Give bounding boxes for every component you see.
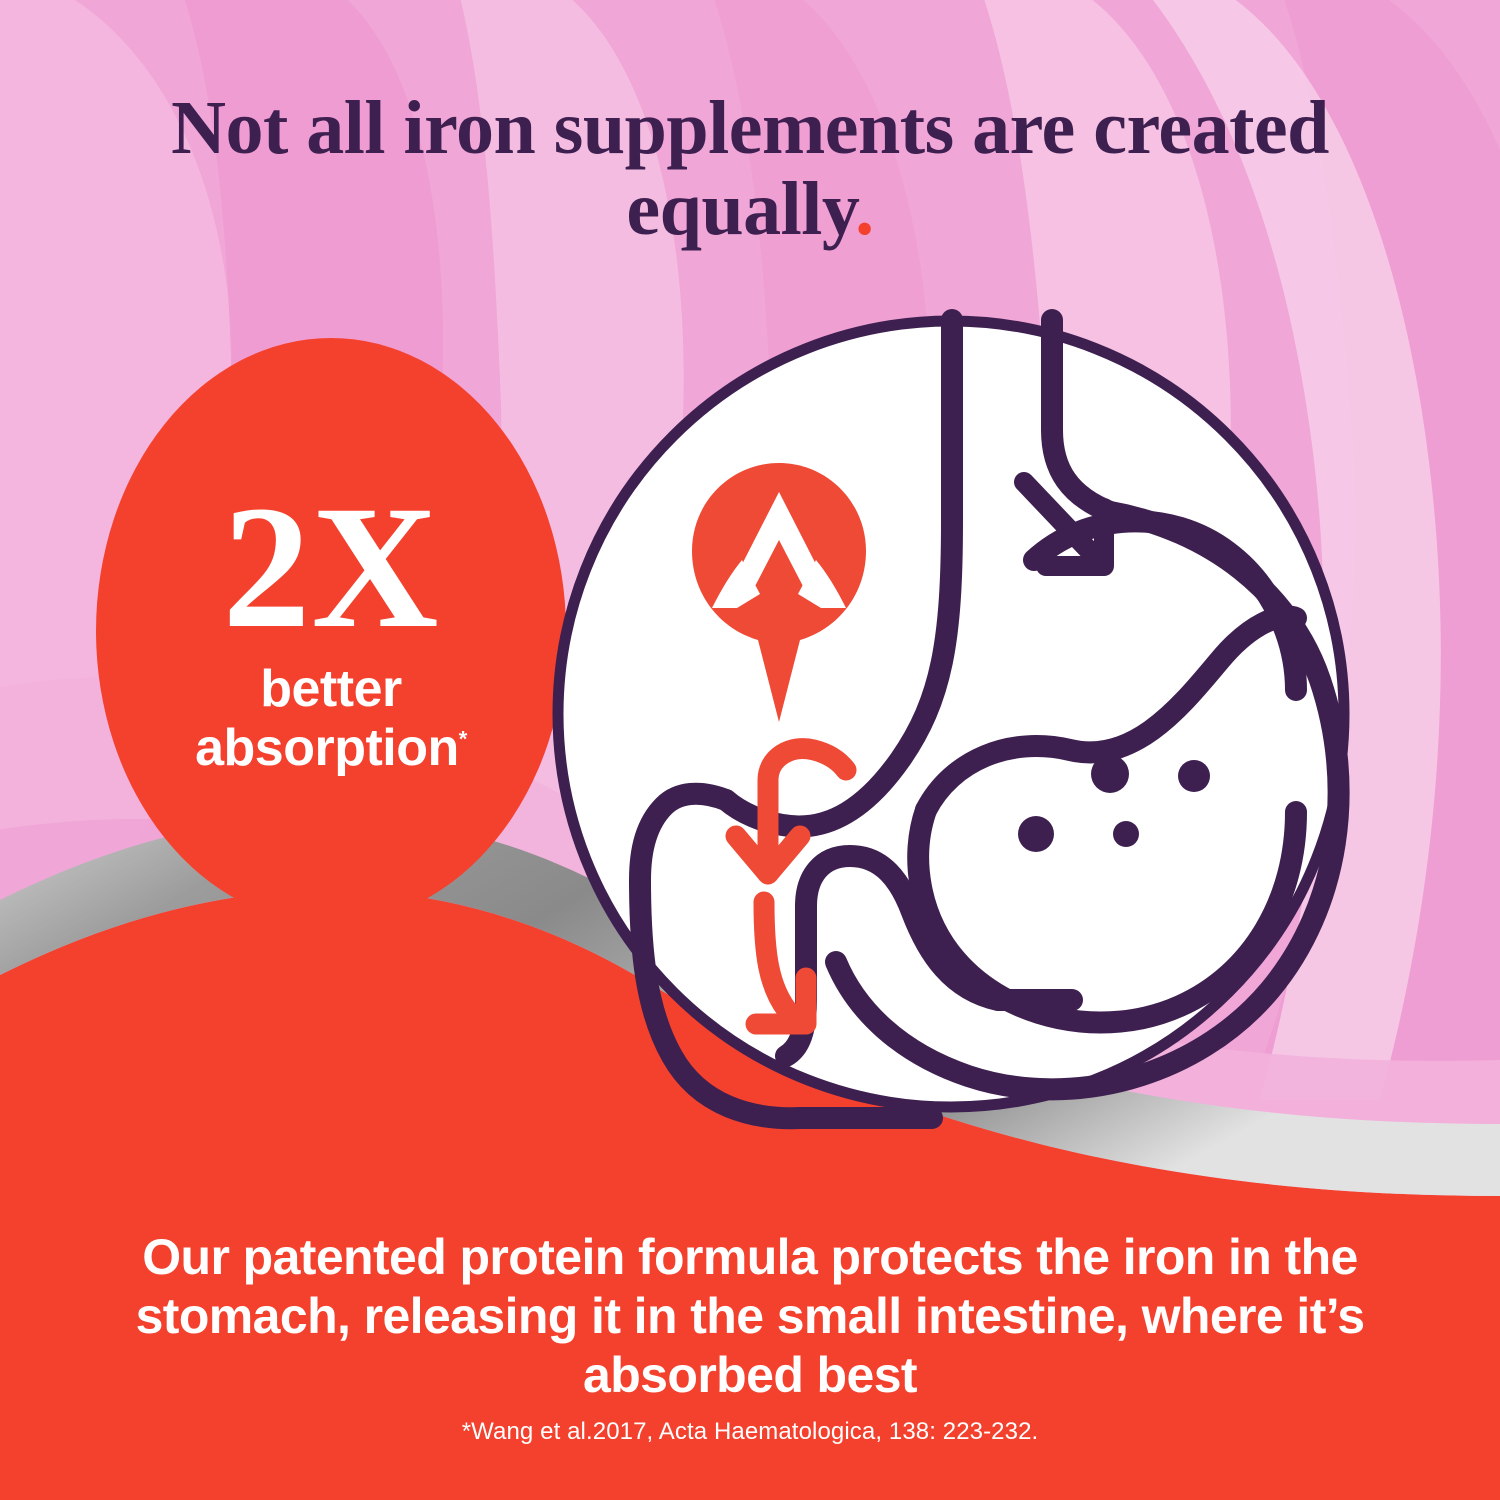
- citation-text: *Wang et al.2017, Acta Haematologica, 13…: [0, 1418, 1500, 1446]
- infographic-poster: Not all iron supplements are created equ…: [0, 0, 1500, 1500]
- bottom-description: Our patented protein formula protects th…: [0, 1228, 1500, 1405]
